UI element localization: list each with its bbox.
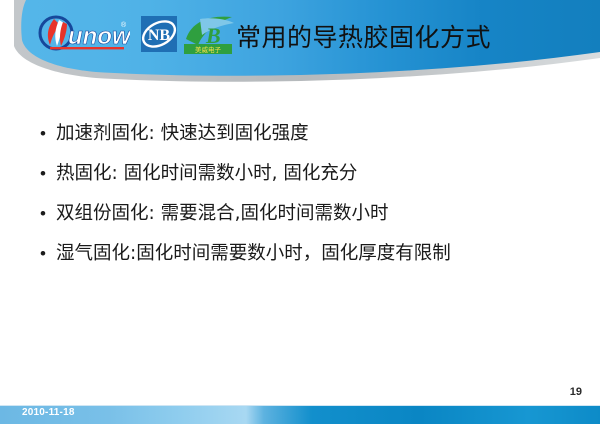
slide-header: unow ® NB B 美威电子 常用的导热胶固化方式 (0, 0, 600, 92)
presentation-slide: unow ® NB B 美威电子 常用的导热胶固化方式 (0, 0, 600, 424)
green-electronics-logo: B 美威电子 (182, 13, 238, 57)
footer-bar (0, 406, 600, 424)
svg-text:NB: NB (148, 27, 171, 44)
footer-date: 2010-11-18 (22, 407, 75, 418)
bullet-text: 加速剂固化: 快速达到固化强度 (56, 118, 309, 150)
bullet-text: 热固化: 固化时间需数小时, 固化充分 (56, 158, 357, 190)
slide-body: • 加速剂固化: 快速达到固化强度 • 热固化: 固化时间需数小时, 固化充分 … (0, 118, 600, 278)
list-item: • 热固化: 固化时间需数小时, 固化充分 (0, 158, 600, 198)
page-number: 19 (570, 386, 582, 398)
bullet-marker-icon: • (40, 238, 56, 270)
list-item: • 加速剂固化: 快速达到固化强度 (0, 118, 600, 158)
bullet-marker-icon: • (40, 118, 56, 150)
unow-logo: unow ® (26, 13, 130, 53)
nb-logo: NB (139, 14, 179, 54)
bullet-marker-icon: • (40, 198, 56, 230)
bullet-text: 湿气固化:固化时间需要数小时，固化厚度有限制 (56, 238, 451, 270)
svg-text:®: ® (121, 21, 127, 29)
bullet-text: 双组份固化: 需要混合,固化时间需数小时 (56, 198, 389, 230)
list-item: • 湿气固化:固化时间需要数小时，固化厚度有限制 (0, 238, 600, 278)
page-title: 常用的导热胶固化方式 (236, 22, 491, 54)
bullet-marker-icon: • (40, 158, 56, 190)
list-item: • 双组份固化: 需要混合,固化时间需数小时 (0, 198, 600, 238)
svg-text:美威电子: 美威电子 (195, 45, 222, 54)
